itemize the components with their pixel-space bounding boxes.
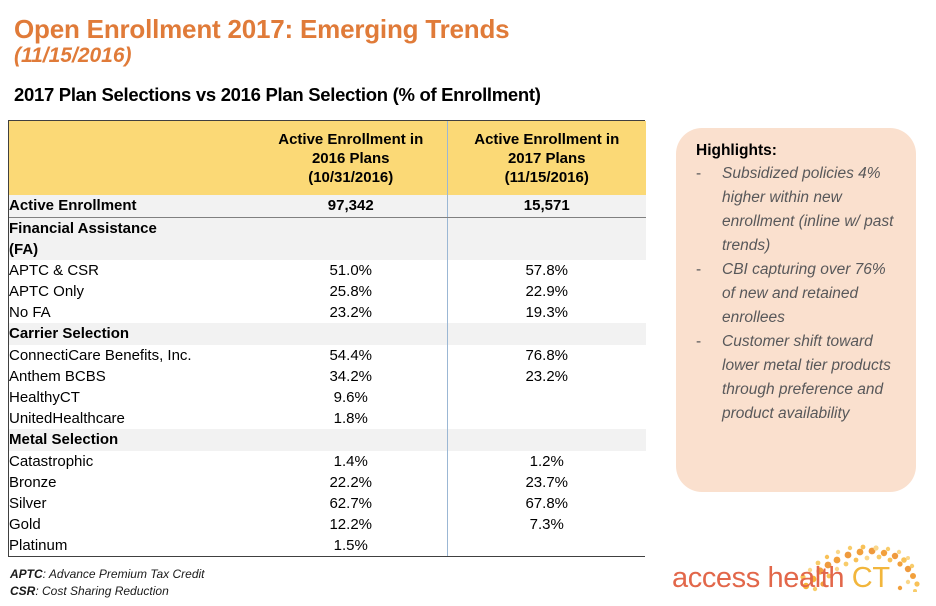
row-label: ConnectiCare Benefits, Inc. (9, 345, 255, 366)
title-block: Open Enrollment 2017: Emerging Trends (1… (14, 14, 674, 69)
cell-2016: 54.4% (255, 345, 447, 366)
access-health-ct-logo: access health CT (672, 548, 930, 604)
logo-word-ct: CT (852, 562, 890, 594)
footnote-csr-definition: : Cost Sharing Reduction (35, 584, 168, 598)
cell-2016: 25.8% (255, 281, 447, 302)
page-subtitle: (11/15/2016) (14, 43, 674, 69)
cell-2016: 1.4% (255, 451, 447, 472)
cell-2017: 15,571 (447, 195, 646, 217)
row-label: Platinum (9, 535, 255, 556)
table-body: Active Enrollment97,34215,571Financial A… (9, 195, 646, 556)
bullet-dash-icon: - (696, 258, 701, 282)
table-row: HealthyCT9.6% (9, 387, 646, 408)
table-row: Financial Assistance (FA) (9, 217, 646, 260)
cell-2016: 9.6% (255, 387, 447, 408)
highlights-panel: Highlights: -Subsidized policies 4% high… (676, 128, 916, 492)
cell-2016: 1.5% (255, 535, 447, 556)
bullet-dash-icon: - (696, 330, 701, 354)
row-label: APTC & CSR (9, 260, 255, 281)
cell-2017 (447, 323, 646, 345)
cell-2016: 23.2% (255, 302, 447, 323)
table-row: APTC & CSR51.0%57.8% (9, 260, 646, 281)
cell-2016: 12.2% (255, 514, 447, 535)
table-row: Platinum1.5% (9, 535, 646, 556)
column-header-2016-line2: 2016 Plans (255, 149, 447, 168)
column-header-2017-line2: 2017 Plans (448, 149, 647, 168)
cell-2017 (447, 429, 646, 451)
cell-2016: 1.8% (255, 408, 447, 429)
page-title: Open Enrollment 2017: Emerging Trends (14, 14, 674, 44)
highlights-list: -Subsidized policies 4% higher within ne… (696, 162, 900, 426)
row-label: Carrier Selection (9, 323, 255, 345)
highlight-item: -Subsidized policies 4% higher within ne… (696, 162, 900, 258)
footnote-aptc: APTC: Advance Premium Tax Credit (10, 566, 205, 583)
row-label: Silver (9, 493, 255, 514)
table-row: Silver62.7%67.8% (9, 493, 646, 514)
footnotes: APTC: Advance Premium Tax Credit CSR: Co… (10, 566, 205, 599)
column-header-2017: Active Enrollment in 2017 Plans (11/15/2… (447, 121, 646, 195)
cell-2017: 23.2% (447, 366, 646, 387)
footnote-aptc-abbr: APTC (10, 567, 43, 581)
highlight-text: CBI capturing over 76% of new and retain… (722, 261, 886, 326)
table-row: Carrier Selection (9, 323, 646, 345)
cell-2017: 23.7% (447, 472, 646, 493)
row-label: Financial Assistance (FA) (9, 217, 255, 260)
cell-2017: 1.2% (447, 451, 646, 472)
table-row: Bronze22.2%23.7% (9, 472, 646, 493)
table-row: Gold12.2%7.3% (9, 514, 646, 535)
row-label: Anthem BCBS (9, 366, 255, 387)
cell-2017: 76.8% (447, 345, 646, 366)
row-label: UnitedHealthcare (9, 408, 255, 429)
column-header-2016: Active Enrollment in 2016 Plans (10/31/2… (255, 121, 447, 195)
row-label: HealthyCT (9, 387, 255, 408)
cell-2016 (255, 217, 447, 260)
cell-2016: 97,342 (255, 195, 447, 217)
cell-2016 (255, 429, 447, 451)
column-header-2017-line1: Active Enrollment in (448, 130, 647, 149)
cell-2017: 19.3% (447, 302, 646, 323)
cell-2017 (447, 408, 646, 429)
column-header-label (9, 121, 255, 195)
cell-2017 (447, 387, 646, 408)
cell-2017 (447, 217, 646, 260)
enrollment-table: Active Enrollment in 2016 Plans (10/31/2… (8, 120, 645, 557)
cell-2017: 57.8% (447, 260, 646, 281)
cell-2017: 22.9% (447, 281, 646, 302)
logo-wordmark: access health CT (672, 562, 890, 595)
highlight-text: Customer shift toward lower metal tier p… (722, 333, 891, 422)
row-label: APTC Only (9, 281, 255, 302)
cell-2016: 62.7% (255, 493, 447, 514)
column-header-2016-line3: (10/31/2016) (255, 168, 447, 187)
table-row: ConnectiCare Benefits, Inc.54.4%76.8% (9, 345, 646, 366)
table-row: Anthem BCBS34.2%23.2% (9, 366, 646, 387)
row-label: Active Enrollment (9, 195, 255, 217)
highlight-text: Subsidized policies 4% higher within new… (722, 165, 893, 254)
table-row: No FA23.2%19.3% (9, 302, 646, 323)
table-caption: 2017 Plan Selections vs 2016 Plan Select… (14, 84, 541, 106)
footnote-aptc-definition: : Advance Premium Tax Credit (43, 567, 205, 581)
column-header-2016-line1: Active Enrollment in (255, 130, 447, 149)
row-label: Bronze (9, 472, 255, 493)
row-label: Metal Selection (9, 429, 255, 451)
table-row: UnitedHealthcare1.8% (9, 408, 646, 429)
highlight-item: -CBI capturing over 76% of new and retai… (696, 258, 900, 330)
cell-2016: 22.2% (255, 472, 447, 493)
row-label: No FA (9, 302, 255, 323)
cell-2016: 34.2% (255, 366, 447, 387)
table-row: Active Enrollment97,34215,571 (9, 195, 646, 217)
cell-2017: 7.3% (447, 514, 646, 535)
cell-2016 (255, 323, 447, 345)
table-row: Metal Selection (9, 429, 646, 451)
bullet-dash-icon: - (696, 162, 701, 186)
table-header-row: Active Enrollment in 2016 Plans (10/31/2… (9, 121, 646, 195)
cell-2016: 51.0% (255, 260, 447, 281)
footnote-csr: CSR: Cost Sharing Reduction (10, 583, 205, 600)
table-row: APTC Only25.8%22.9% (9, 281, 646, 302)
cell-2017: 67.8% (447, 493, 646, 514)
row-label: Catastrophic (9, 451, 255, 472)
column-header-2017-line3: (11/15/2016) (448, 168, 647, 187)
logo-word-access-health: access health (672, 562, 852, 594)
cell-2017 (447, 535, 646, 556)
highlight-item: -Customer shift toward lower metal tier … (696, 330, 900, 426)
row-label: Gold (9, 514, 255, 535)
highlights-title: Highlights: (696, 142, 900, 160)
footnote-csr-abbr: CSR (10, 584, 35, 598)
table-row: Catastrophic1.4%1.2% (9, 451, 646, 472)
